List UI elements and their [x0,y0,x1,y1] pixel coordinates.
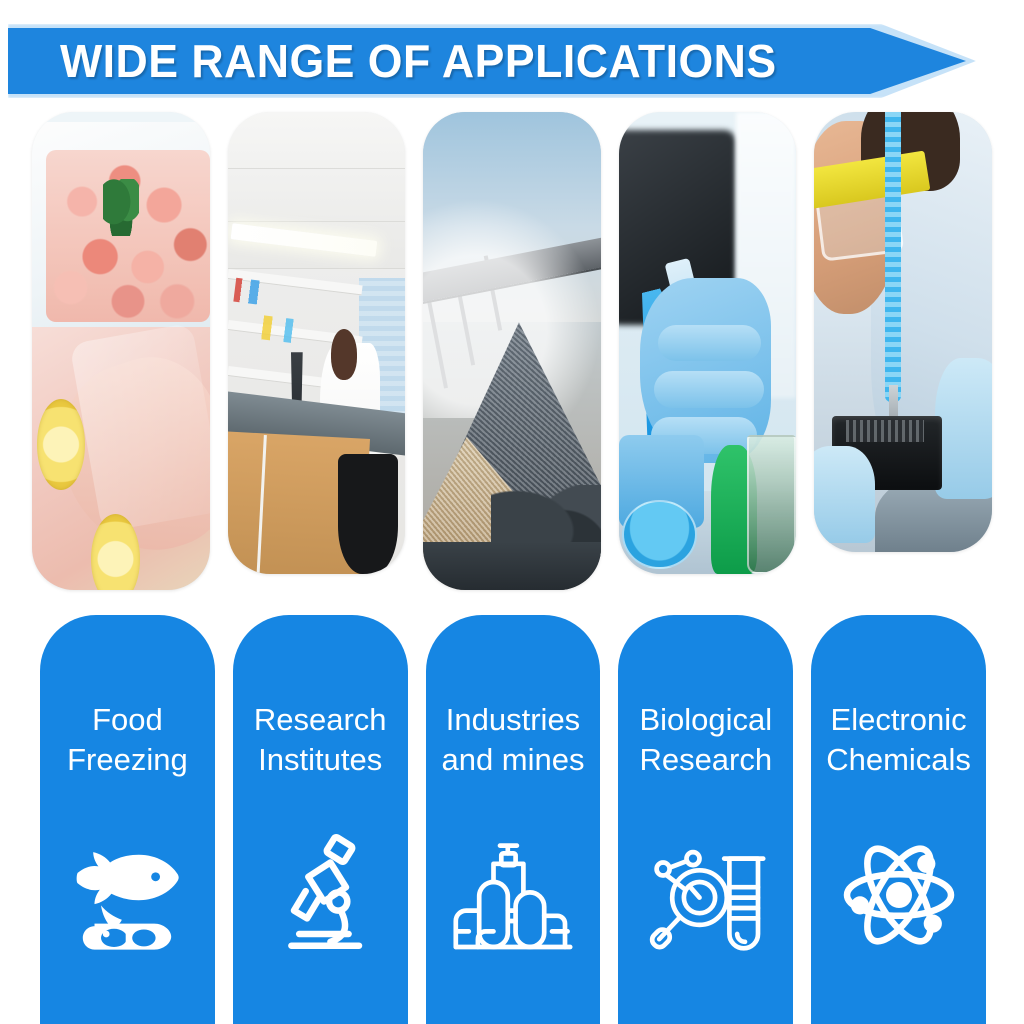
card-research-institutes[interactable]: Research Institutes [233,615,408,1024]
photo-electronic-chemicals [814,112,992,552]
page-title: WIDE RANGE OF APPLICATIONS [60,28,777,94]
applications-infographic: WIDE RANGE OF APPLICATIONS [0,0,1024,1024]
card-label-industries-and-mines: Industries and mines [435,700,590,779]
card-electronic-chemicals[interactable]: Electronic Chemicals [811,615,986,1024]
photo-laboratory [228,112,406,574]
atom-icon [834,830,964,960]
industrial-plant-icon [448,830,578,960]
header-banner: WIDE RANGE OF APPLICATIONS [8,28,976,94]
magnifier-test-tube-icon [641,830,771,960]
photo-strip [32,112,992,594]
application-card-row: Food Freezing Research Institutes [40,615,986,1024]
card-label-research-institutes: Research Institutes [248,700,393,779]
card-label-biological-research: Biological Research [633,700,778,779]
card-label-electronic-chemicals: Electronic Chemicals [820,700,977,779]
fish-and-steak-icon [62,830,192,960]
card-label-food-freezing: Food Freezing [61,700,194,779]
photo-frozen-food [32,112,210,590]
microscope-icon [255,830,385,960]
card-industries-and-mines[interactable]: Industries and mines [426,615,601,1024]
card-food-freezing[interactable]: Food Freezing [40,615,215,1024]
photo-mining-quarry [423,112,601,590]
photo-biological-research [619,112,797,574]
card-biological-research[interactable]: Biological Research [618,615,793,1024]
